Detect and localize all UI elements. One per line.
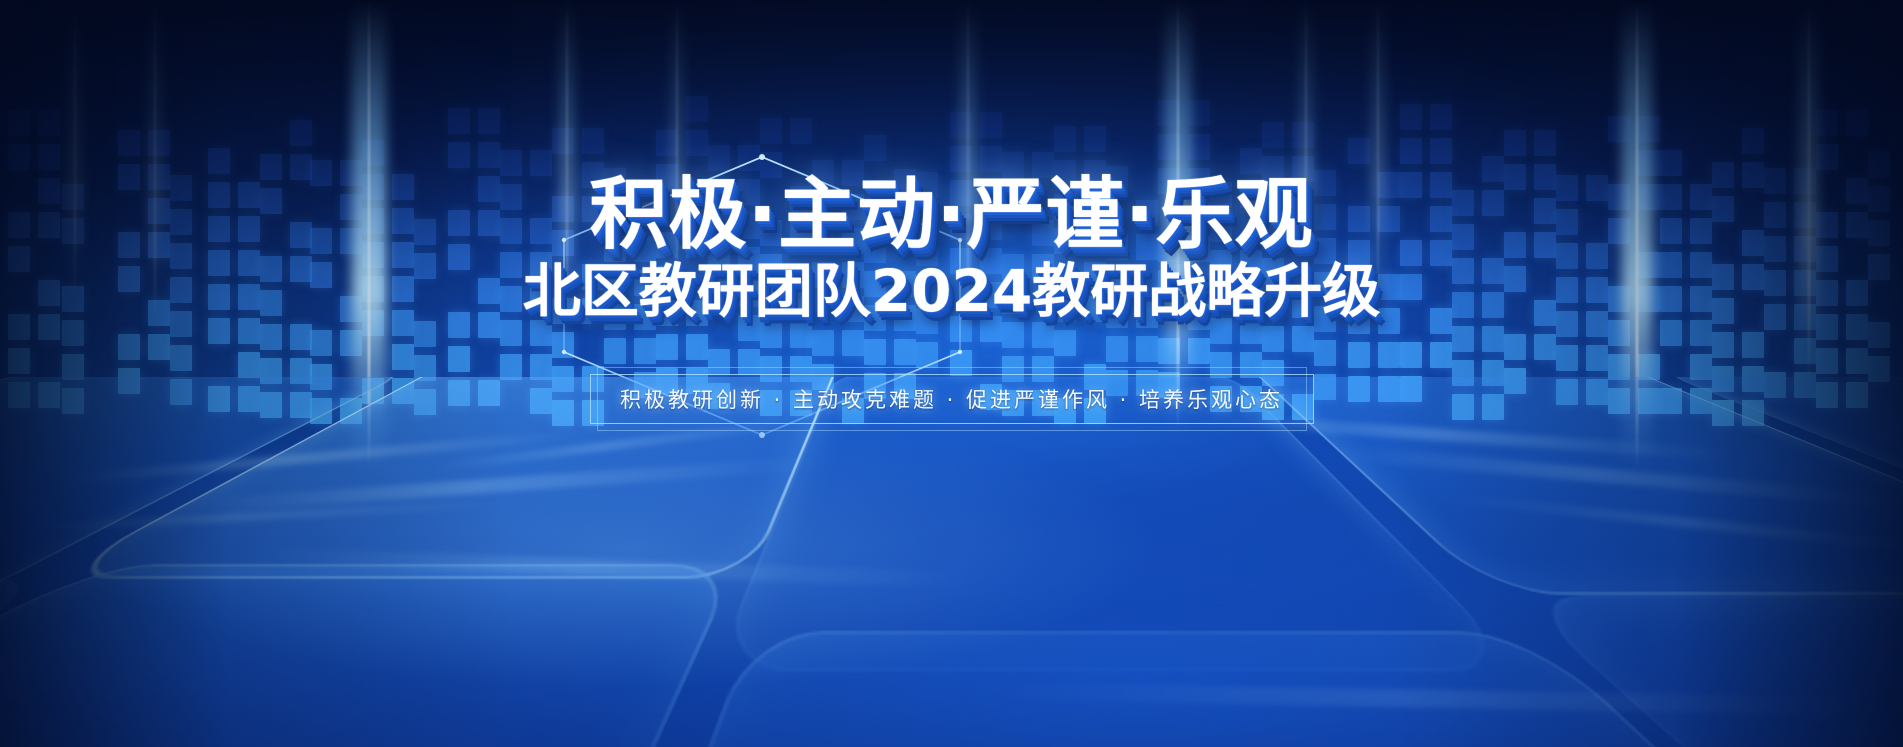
- banner-stage: 积极·主动·严谨·乐观 北区教研团队2024教研战略升级 积极教研创新 · 主动…: [0, 0, 1903, 747]
- tagline-box: 积极教研创新 · 主动攻克难题 · 促进严谨作风 · 培养乐观心态: [590, 374, 1314, 424]
- tagline-text: 积极教研创新 · 主动攻克难题 · 促进严谨作风 · 培养乐观心态: [590, 374, 1314, 424]
- subtitle: 北区教研团队2024教研战略升级: [523, 262, 1380, 320]
- main-title-row: 积极·主动·严谨·乐观: [0, 176, 1903, 254]
- main-title: 积极·主动·严谨·乐观: [590, 176, 1314, 254]
- subtitle-row: 北区教研团队2024教研战略升级: [0, 262, 1903, 320]
- banner-content: 积极·主动·严谨·乐观 北区教研团队2024教研战略升级 积极教研创新 · 主动…: [0, 0, 1903, 747]
